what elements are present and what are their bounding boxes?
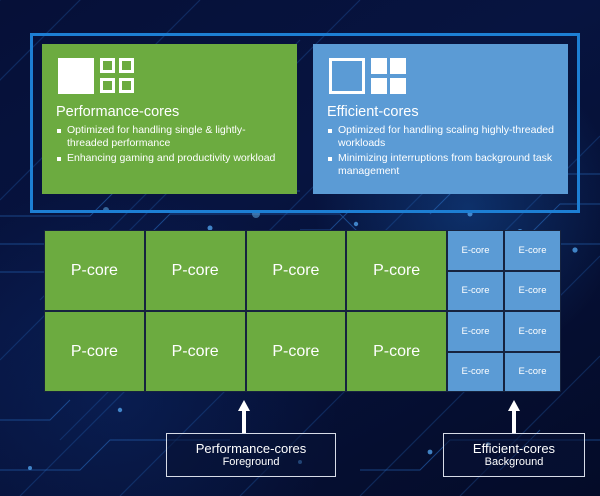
e-core-cluster: E-core E-core E-core E-core E-core E-cor… (447, 230, 561, 392)
icon-small-square (100, 78, 115, 93)
icon-small-square (371, 58, 387, 74)
icon-small-square (119, 58, 134, 73)
icon-small-square (119, 78, 134, 93)
icon-small-square (390, 58, 406, 74)
p-core-cell: P-core (246, 311, 347, 392)
performance-core-icon (58, 58, 134, 95)
icon-small-square (371, 78, 387, 94)
performance-cores-bullet-list: Optimized for handling single & lightly-… (56, 124, 283, 165)
performance-cores-arrow-icon (237, 400, 251, 434)
e-core-cell: E-core (504, 271, 561, 312)
callout-subtitle: Foreground (223, 456, 280, 469)
p-core-cell: P-core (145, 311, 246, 392)
e-core-cell: E-core (504, 311, 561, 352)
icon-small-square (100, 58, 115, 73)
efficient-cores-callout: Efficient-cores Background (443, 433, 585, 477)
performance-cores-panel: Performance-cores Optimized for handling… (42, 44, 297, 194)
bullet-item: Optimized for handling single & lightly-… (56, 124, 283, 150)
core-layout-diagram: P-core P-core P-core P-core P-core P-cor… (44, 230, 561, 392)
slide-canvas: Performance-cores Optimized for handling… (0, 0, 600, 496)
e-core-cell: E-core (447, 230, 504, 271)
p-core-cell: P-core (246, 230, 347, 311)
efficient-core-icon (329, 58, 405, 95)
icon-large-square (329, 58, 365, 94)
e-core-cell: E-core (447, 311, 504, 352)
e-core-cell: E-core (504, 352, 561, 393)
p-core-cell: P-core (346, 230, 447, 311)
callout-title: Efficient-cores (473, 441, 555, 456)
p-core-cluster: P-core P-core P-core P-core P-core P-cor… (44, 230, 447, 392)
e-core-cell: E-core (447, 352, 504, 393)
bullet-item: Optimized for handling scaling highly-th… (327, 124, 554, 150)
callout-subtitle: Background (485, 456, 544, 469)
performance-cores-callout: Performance-cores Foreground (166, 433, 336, 477)
efficient-cores-arrow-icon (507, 400, 521, 434)
performance-cores-title: Performance-cores (56, 104, 283, 121)
p-core-cell: P-core (346, 311, 447, 392)
icon-small-square (390, 78, 406, 94)
bullet-item: Minimizing interruptions from background… (327, 152, 554, 178)
p-core-cell: P-core (44, 311, 145, 392)
callout-title: Performance-cores (196, 441, 307, 456)
efficient-cores-title: Efficient-cores (327, 104, 554, 121)
e-core-cell: E-core (447, 271, 504, 312)
efficient-cores-panel: Efficient-cores Optimized for handling s… (313, 44, 568, 194)
icon-large-square (58, 58, 94, 94)
p-core-cell: P-core (44, 230, 145, 311)
e-core-cell: E-core (504, 230, 561, 271)
efficient-cores-bullet-list: Optimized for handling scaling highly-th… (327, 124, 554, 178)
bullet-item: Enhancing gaming and productivity worklo… (56, 152, 283, 165)
p-core-cell: P-core (145, 230, 246, 311)
